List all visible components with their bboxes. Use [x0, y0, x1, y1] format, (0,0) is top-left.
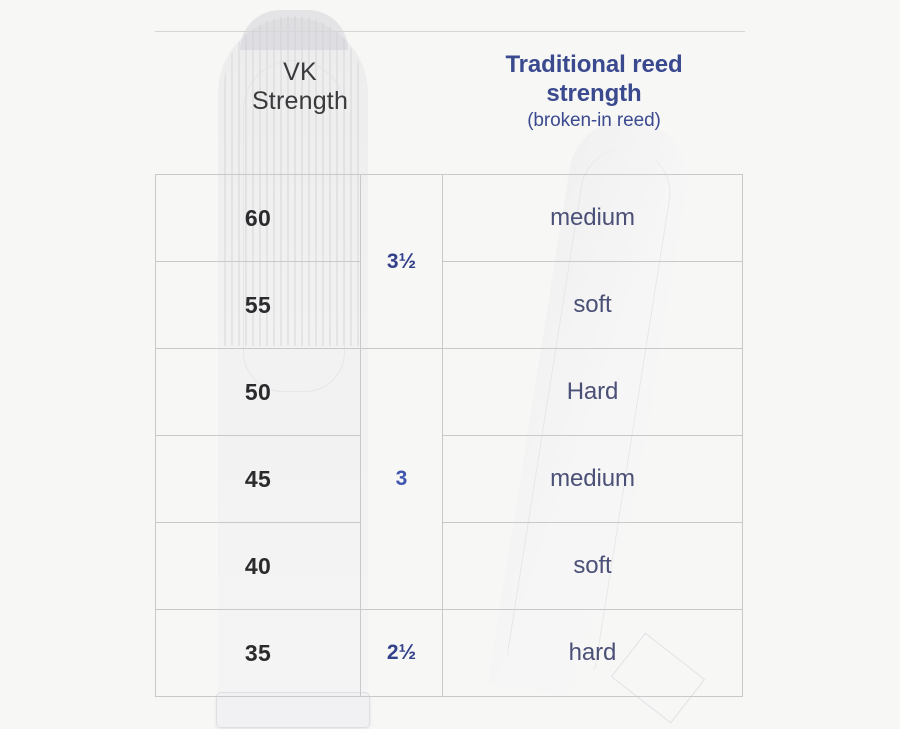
vk-header-line1: VK	[155, 58, 445, 87]
vk-strength-value: 55	[156, 262, 361, 349]
descriptor-value: medium	[443, 436, 743, 523]
descriptor-value: Hard	[443, 349, 743, 436]
table-row: 55 soft	[156, 262, 743, 349]
traditional-header-line2: strength	[445, 79, 743, 108]
table-row: 35 2½ hard	[156, 610, 743, 697]
vk-strength-value: 50	[156, 349, 361, 436]
vk-strength-value: 35	[156, 610, 361, 697]
table-row: 40 soft	[156, 523, 743, 610]
table-row: 45 medium	[156, 436, 743, 523]
vk-strength-value: 45	[156, 436, 361, 523]
vk-strength-value: 40	[156, 523, 361, 610]
descriptor-value: hard	[443, 610, 743, 697]
table-header-area: VK Strength Traditional reed strength (b…	[155, 50, 743, 134]
reed-strength-table: 60 3½ medium 55 soft 50 3 Hard 45 medium…	[155, 174, 743, 697]
vk-header-line2: Strength	[155, 87, 445, 116]
top-divider-rule	[155, 31, 745, 32]
traditional-strength-value: 3½	[361, 175, 443, 349]
traditional-header-subtitle: (broken-in reed)	[445, 108, 743, 134]
traditional-strength-value: 2½	[361, 610, 443, 697]
table-row: 50 3 Hard	[156, 349, 743, 436]
traditional-header-line1: Traditional reed	[445, 50, 743, 79]
descriptor-value: soft	[443, 523, 743, 610]
vk-strength-header: VK Strength	[155, 50, 445, 116]
descriptor-value: medium	[443, 175, 743, 262]
table-row: 60 3½ medium	[156, 175, 743, 262]
descriptor-value: soft	[443, 262, 743, 349]
traditional-strength-header: Traditional reed strength (broken-in ree…	[445, 50, 743, 134]
traditional-strength-value: 3	[361, 349, 443, 610]
vk-strength-value: 60	[156, 175, 361, 262]
comparison-chart-page: VK Strength Traditional reed strength (b…	[0, 0, 900, 729]
